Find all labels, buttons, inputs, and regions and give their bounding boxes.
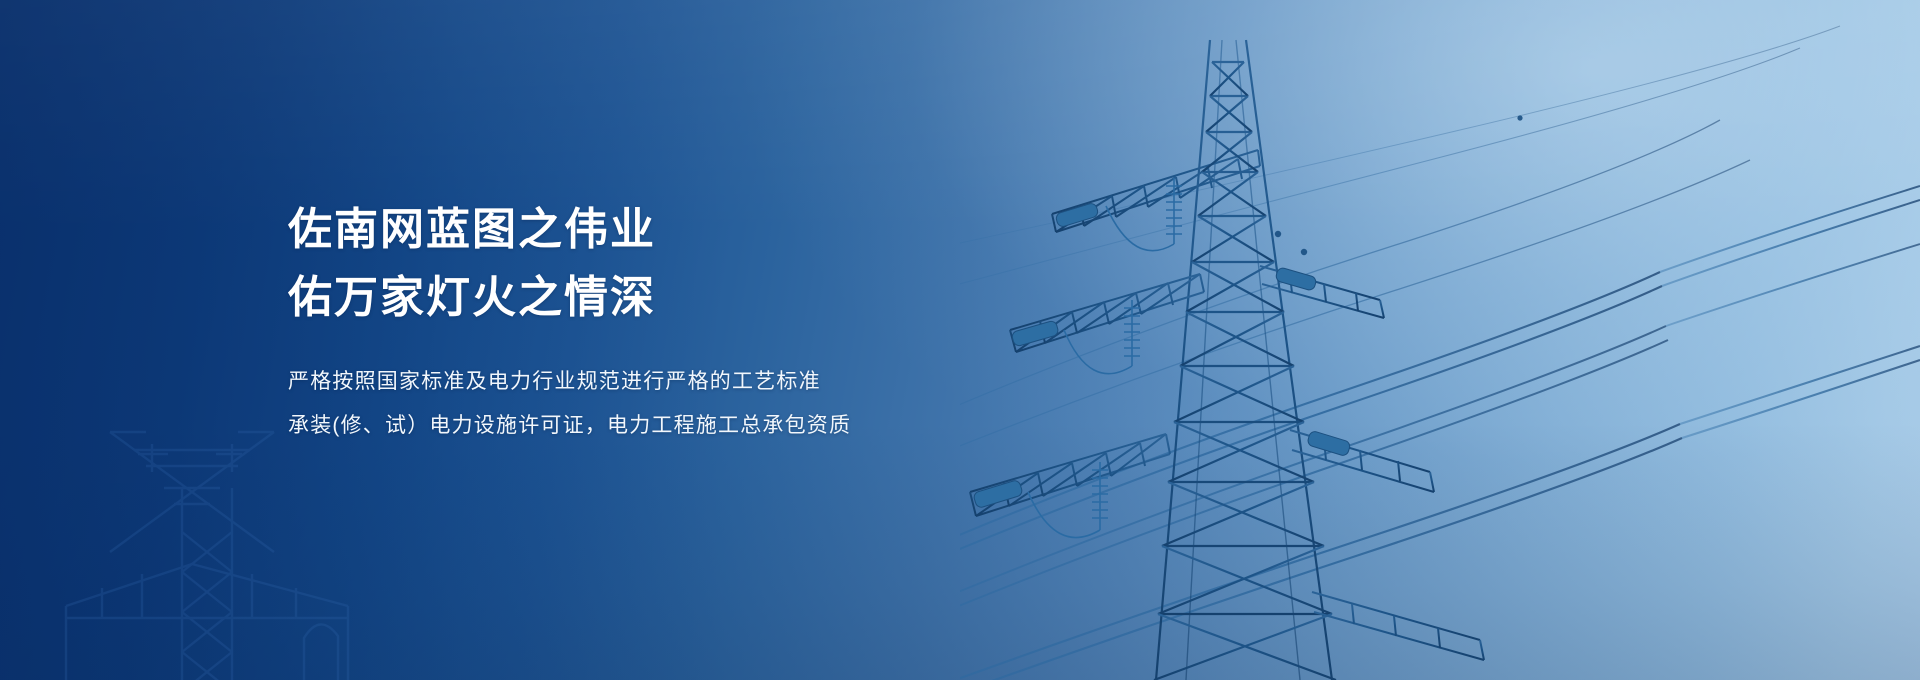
subtitle-line-1: 严格按照国家标准及电力行业规范进行严格的工艺标准 [288, 360, 1048, 404]
headline-line-2: 佑万家灯火之情深 [288, 264, 1048, 332]
hero-banner: 佐南网蓝图之伟业 佑万家灯火之情深 严格按照国家标准及电力行业规范进行严格的工艺… [0, 0, 1920, 680]
subtitle-block: 严格按照国家标准及电力行业规范进行严格的工艺标准 承装(修、试）电力设施许可证，… [288, 360, 1048, 448]
banner-copy: 佐南网蓝图之伟业 佑万家灯火之情深 严格按照国家标准及电力行业规范进行严格的工艺… [288, 196, 1048, 448]
headline-line-1: 佐南网蓝图之伟业 [288, 196, 1048, 264]
subtitle-line-2: 承装(修、试）电力设施许可证，电力工程施工总承包资质 [288, 404, 1048, 448]
